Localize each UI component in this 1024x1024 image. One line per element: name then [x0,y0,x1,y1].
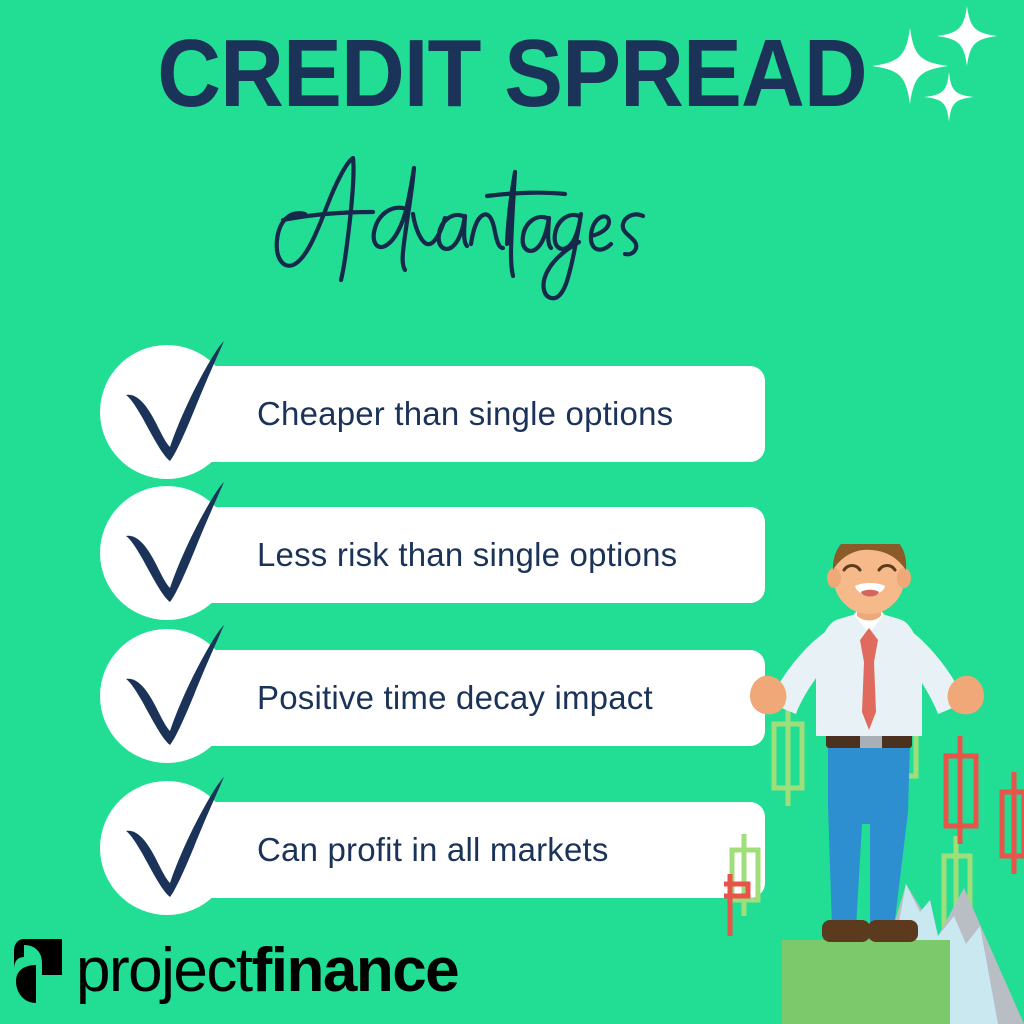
brand-logo-text: projectfinance [76,940,458,1002]
trousers [828,742,910,928]
ear-left [827,568,841,588]
shoe-right [868,920,918,942]
brand-name-bold: finance [252,936,459,1005]
check-icon [114,337,232,467]
list-item-label: Positive time decay impact [257,650,653,746]
list-item: Can profit in all markets [100,781,765,915]
check-icon [114,621,232,751]
businessman-figure [750,544,984,942]
check-icon [114,773,232,903]
projectfinance-logo-icon [14,935,66,1007]
brand-logo[interactable]: projectfinance [14,934,458,1008]
list-item: Cheaper than single options [100,345,765,479]
shoe-left [822,920,870,942]
ear-right [897,568,911,588]
infographic-poster: CREDIT SPREAD [0,0,1024,1024]
list-item-label: Cheaper than single options [257,366,673,462]
list-item-label: Can profit in all markets [257,802,609,898]
celebration-illustration-svg [724,544,1024,1024]
podium [782,940,950,1024]
brand-name-light: project [76,936,252,1005]
list-item: Positive time decay impact [100,629,765,763]
list-item: Less risk than single options [100,486,765,620]
list-item-label: Less risk than single options [257,507,677,603]
check-icon [114,478,232,608]
celebration-illustration [724,544,1024,1024]
